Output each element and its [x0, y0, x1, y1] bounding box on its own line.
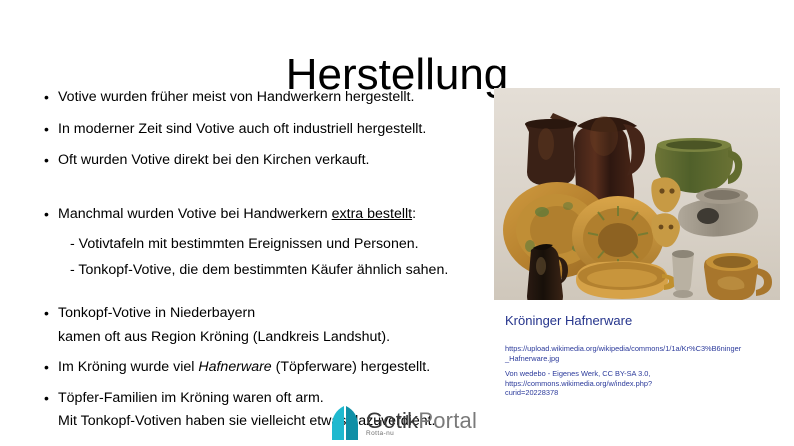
bullet-item-6: Im Kröning wurde viel Hafnerware (Töpfer… [40, 356, 495, 380]
attribution-line-3: curid=20228378 [505, 388, 558, 397]
gotikportal-logo[interactable]: GotikPortal Rotta-nu [330, 402, 490, 444]
logo-word-portal: Portal [418, 408, 477, 433]
image-source-url[interactable]: https://upload.wikimedia.org/wikipedia/c… [505, 344, 745, 363]
bullet-item-2: In moderner Zeit sind Votive auch oft in… [40, 118, 495, 142]
bullet-text-prefix: Im Kröning wurde viel [58, 359, 198, 375]
bullet-text-suffix: (Töpferware) hergestellt. [272, 359, 431, 375]
sub-item-text: - Votivtafeln mit bestimmten Ereignissen… [70, 236, 419, 252]
image-caption: Kröninger Hafnerware [505, 312, 632, 329]
attribution-line-2: https://commons.wikimedia.org/w/index.ph… [505, 379, 652, 388]
bullet-item-1: Votive wurden früher meist von Handwerke… [40, 86, 495, 110]
sub-item-1: - Votivtafeln mit bestimmten Ereignissen… [40, 233, 495, 257]
body-text-column: Votive wurden früher meist von Handwerke… [40, 86, 495, 441]
sub-item-2: - Tonkopf-Votive, die dem bestimmten Käu… [40, 259, 495, 283]
paragraph-spacer-2 [40, 284, 495, 302]
bullet-text: In moderner Zeit sind Votive auch oft in… [58, 121, 426, 137]
bullet-text-line2: kamen oft aus Region Kröning (Landkreis … [58, 329, 390, 345]
bullet-item-4: Manchmal wurden Votive bei Handwerkern e… [40, 203, 495, 227]
bullet-text-suffix: : [412, 206, 416, 222]
gothic-arch-icon [330, 405, 360, 441]
image-attribution[interactable]: Von wedebo - Eigenes Werk, CC BY-SA 3.0,… [505, 369, 750, 398]
bullet-item-3: Oft wurden Votive direkt bei den Kirchen… [40, 149, 495, 173]
paragraph-spacer [40, 181, 495, 203]
bullet-text-line1: Töpfer-Familien im Kröning waren oft arm… [58, 390, 324, 406]
bullet-text: Votive wurden früher meist von Handwerke… [58, 89, 414, 105]
slide-canvas: Herstellung Votive wurden früher meist v… [0, 0, 794, 446]
bullet-item-5: Tonkopf-Votive in Niederbayern kamen oft… [40, 302, 495, 349]
sub-item-text: - Tonkopf-Votive, die dem bestimmten Käu… [70, 262, 448, 278]
bullet-text-underlined: extra bestellt [332, 206, 412, 222]
bullet-text-prefix: Manchmal wurden Votive bei Handwerkern [58, 206, 332, 222]
bullet-text-line1: Tonkopf-Votive in Niederbayern [58, 305, 255, 321]
bullet-text-italic: Hafnerware [198, 359, 271, 375]
logo-text: GotikPortal Rotta-nu [366, 409, 477, 437]
bullet-text: Oft wurden Votive direkt bei den Kirchen… [58, 152, 370, 168]
kroeninger-hafnerware-photo [494, 88, 780, 300]
attribution-line-1: Von wedebo - Eigenes Werk, CC BY-SA 3.0, [505, 369, 650, 378]
